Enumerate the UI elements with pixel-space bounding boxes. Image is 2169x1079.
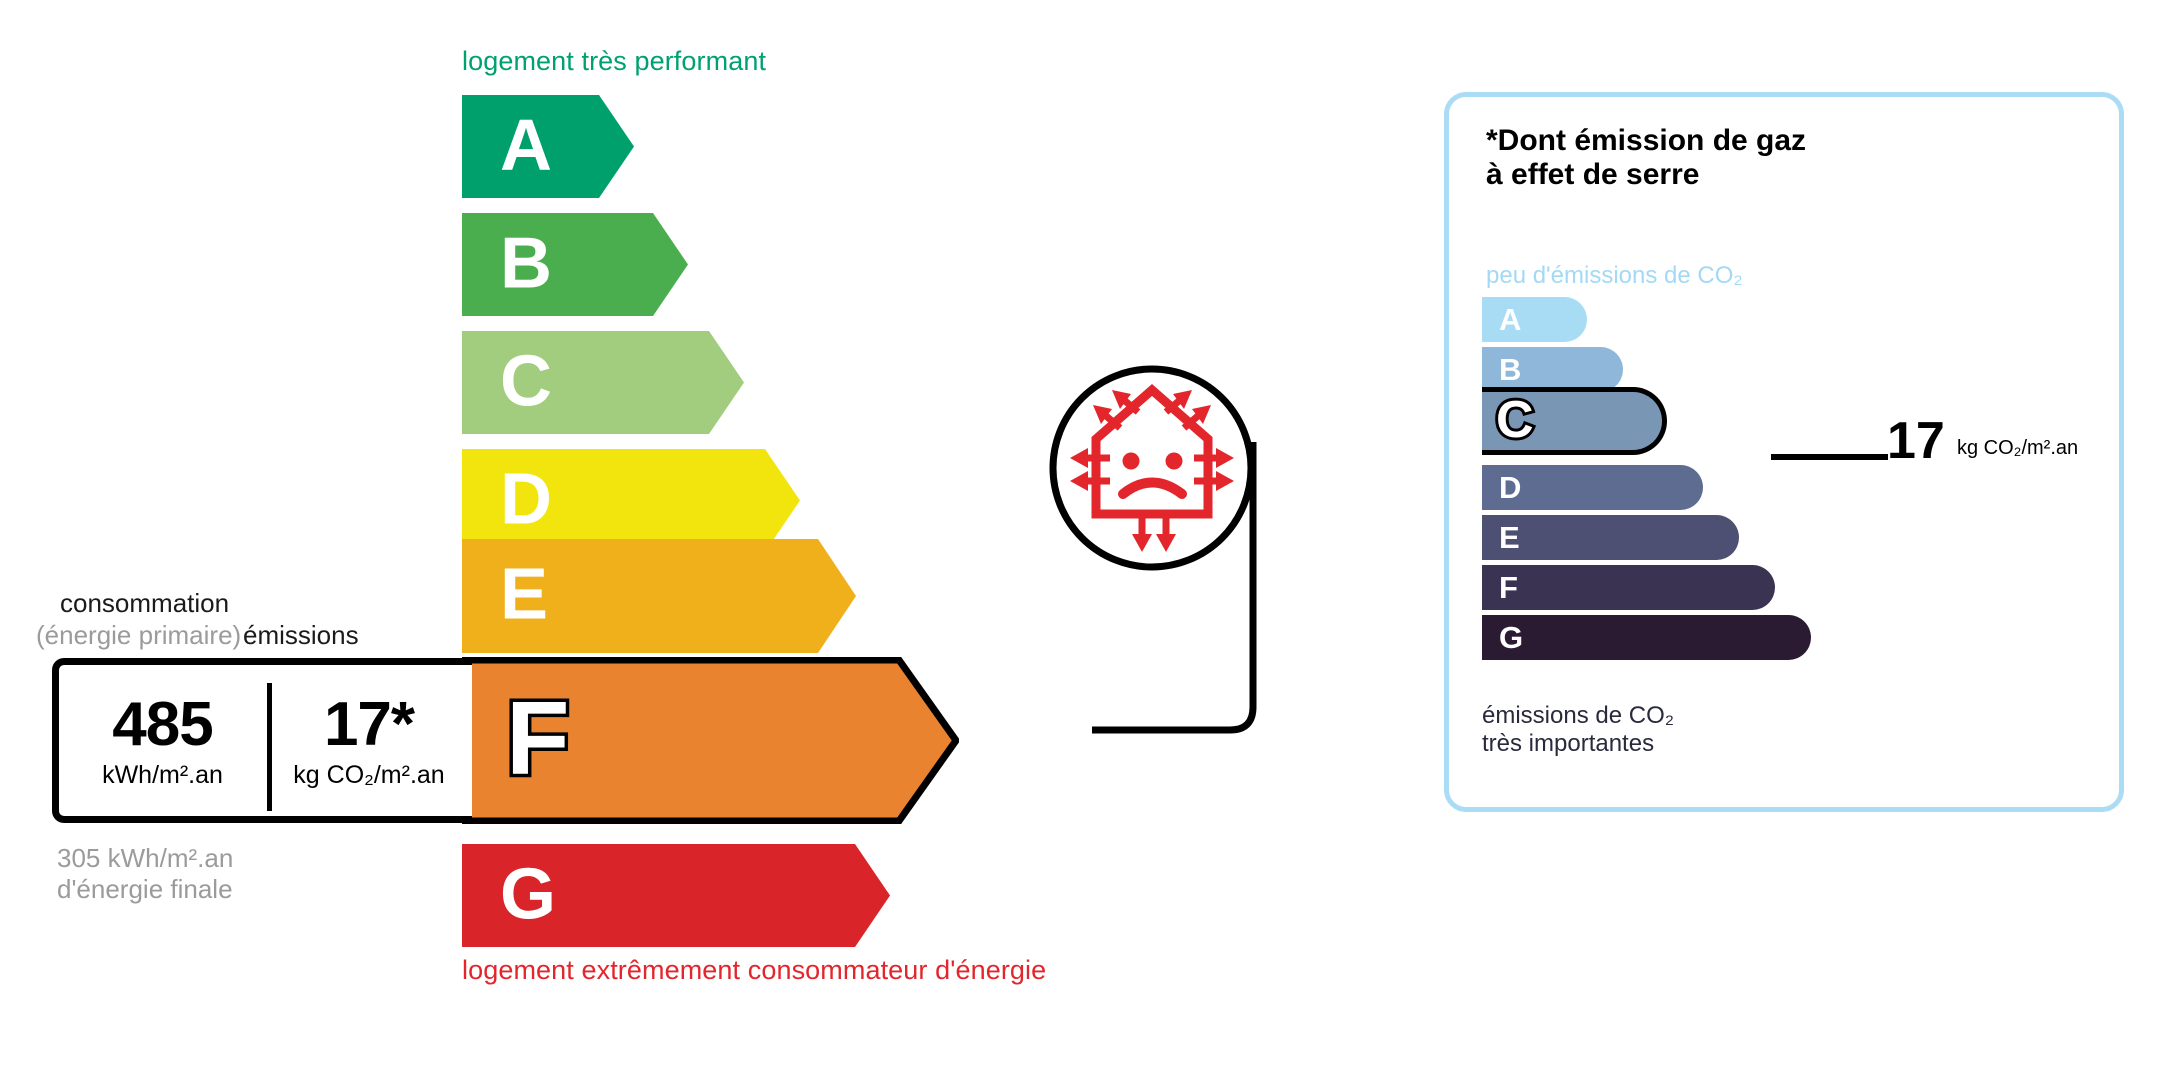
ghg-bar-d[interactable]: D bbox=[1482, 465, 1703, 510]
energy-band-b-letter: B bbox=[500, 227, 552, 299]
final-energy-note: 305 kWh/m².an d'énergie finale bbox=[57, 843, 233, 904]
emissions-value-cell: 17* kg CO₂/m².an bbox=[273, 665, 465, 816]
ghg-value-leader-line bbox=[1771, 454, 1888, 460]
ghg-bar-g-letter: G bbox=[1499, 621, 1523, 652]
energy-band-g-letter: G bbox=[500, 858, 556, 930]
ghg-bar-d-letter: D bbox=[1499, 471, 1521, 502]
value-readout-box: 485 kWh/m².an 17* kg CO₂/m².an bbox=[52, 658, 472, 823]
energy-band-c[interactable]: C bbox=[462, 331, 744, 434]
energy-band-c-letter: C bbox=[500, 345, 552, 417]
ghg-bar-b[interactable]: B bbox=[1482, 347, 1623, 392]
energy-band-d-letter: D bbox=[500, 463, 552, 535]
consumption-value-cell: 485 kWh/m².an bbox=[59, 665, 266, 816]
consumption-label: consommation bbox=[60, 588, 229, 619]
ghg-emissions-panel: *Dont émission de gaz à effet de serre p… bbox=[1444, 92, 2124, 812]
scale-top-caption: logement très performant bbox=[462, 46, 766, 77]
energy-band-e-letter: E bbox=[500, 559, 548, 631]
ghg-bar-a-letter: A bbox=[1499, 303, 1521, 334]
ghg-bottom-caption: émissions de CO₂ très importantes bbox=[1482, 702, 1674, 758]
dpe-diagram: logement très performant A B C bbox=[0, 0, 2169, 1079]
ghg-bar-a[interactable]: A bbox=[1482, 297, 1587, 342]
sad-house-heatloss-icon bbox=[1048, 364, 1256, 572]
emissions-label: émissions bbox=[243, 620, 359, 651]
consumption-unit: kWh/m².an bbox=[102, 763, 223, 788]
ghg-value: 17 bbox=[1887, 415, 1945, 467]
ghg-bar-g[interactable]: G bbox=[1482, 615, 1811, 660]
energy-band-a[interactable]: A bbox=[462, 95, 634, 198]
ghg-panel-title: *Dont émission de gaz à effet de serre bbox=[1486, 124, 1806, 192]
energy-band-d[interactable]: D bbox=[462, 449, 800, 552]
ghg-bar-c-selected[interactable]: C bbox=[1482, 387, 1667, 455]
energy-band-g[interactable]: G bbox=[462, 844, 890, 947]
band-b-shape bbox=[462, 213, 688, 316]
energy-band-f-letter: F bbox=[506, 686, 570, 790]
energy-band-f-selected[interactable]: F bbox=[462, 657, 959, 824]
ghg-top-caption: peu d'émissions de CO₂ bbox=[1486, 262, 1743, 290]
energy-band-e[interactable]: E bbox=[462, 539, 856, 653]
ghg-bar-f[interactable]: F bbox=[1482, 565, 1775, 610]
ghg-bar-c-letter: C bbox=[1496, 394, 1534, 446]
energy-band-a-letter: A bbox=[500, 109, 552, 181]
ghg-bar-e[interactable]: E bbox=[1482, 515, 1739, 560]
ghg-value-unit: kg CO₂/m².an bbox=[1957, 438, 2078, 458]
consumption-sublabel: (énergie primaire) bbox=[36, 620, 241, 651]
scale-bottom-caption: logement extrêmement consommateur d'éner… bbox=[462, 955, 1046, 986]
emissions-unit: kg CO₂/m².an bbox=[293, 763, 444, 788]
energy-performance-scale: logement très performant A B C bbox=[0, 0, 1400, 1079]
value-divider bbox=[267, 683, 272, 811]
ghg-bar-b-letter: B bbox=[1499, 353, 1521, 384]
consumption-value: 485 bbox=[112, 694, 212, 756]
ghg-bar-e-letter: E bbox=[1499, 521, 1520, 552]
emissions-value: 17* bbox=[324, 694, 414, 756]
energy-band-b[interactable]: B bbox=[462, 213, 688, 316]
ghg-bar-f-letter: F bbox=[1499, 571, 1518, 602]
